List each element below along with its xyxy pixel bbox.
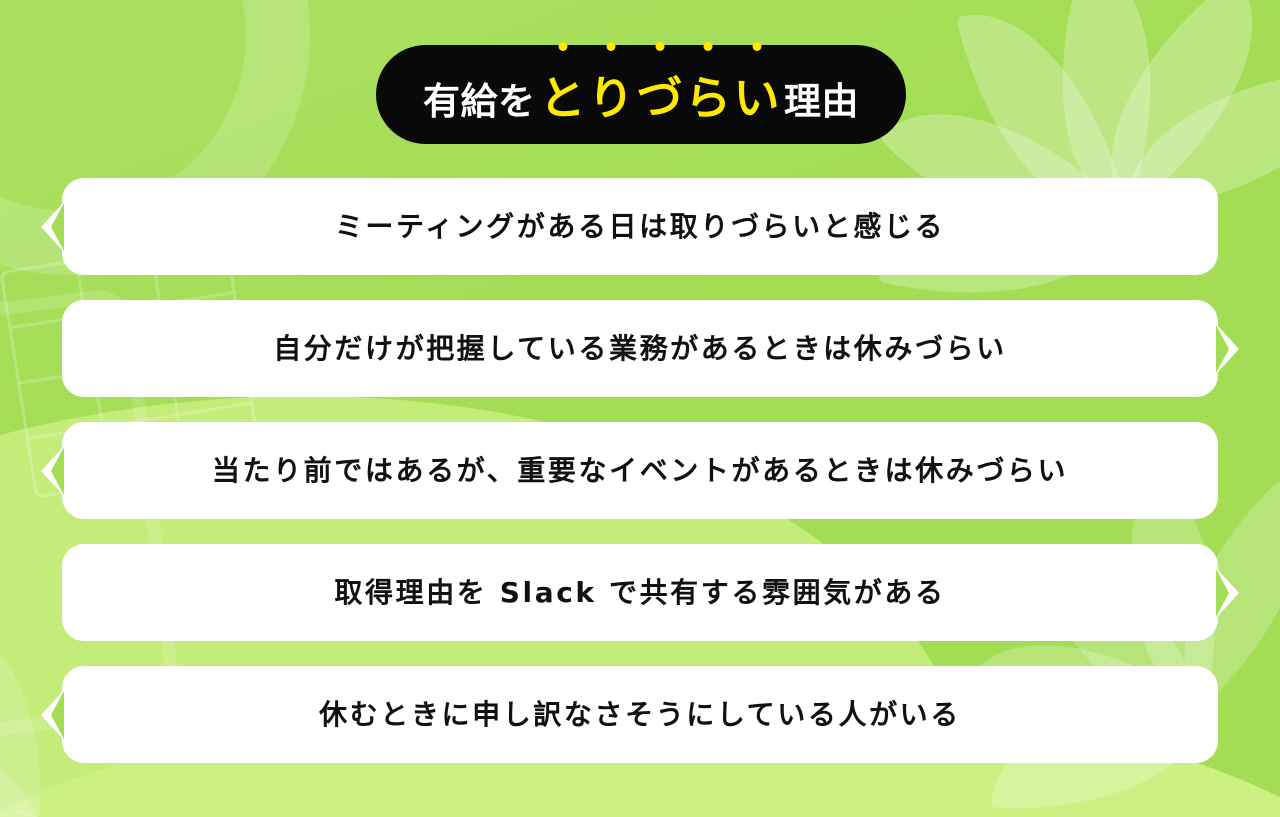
title-emphasis: と り づ ら い: [539, 62, 782, 128]
reason-card-1: ミーティングがある日は取りづらいと感じる: [62, 178, 1218, 275]
title-emphasis-char: り: [587, 62, 636, 128]
reason-card-label: ミーティングがある日は取りづらいと感じる: [335, 213, 945, 241]
title-prefix: 有給を: [423, 71, 536, 125]
title-emphasis-char: い: [733, 62, 782, 128]
reason-card-5: 休むときに申し訳なさそうにしている人がいる: [62, 666, 1218, 763]
reason-card-label: 取得理由を Slack で共有する雰囲気がある: [334, 579, 945, 607]
reason-card-label: 自分だけが把握している業務があるときは休みづらい: [273, 335, 1007, 363]
speech-tail-left-icon: [41, 691, 63, 739]
speech-tail-left-icon: [41, 203, 63, 251]
infographic-slide: 有給を と り づ ら い 理由 ミーティングがある日は取りづらいと感じる 自分…: [0, 0, 1280, 817]
title-emphasis-char: ら: [684, 62, 733, 128]
title-pill: 有給を と り づ ら い 理由: [376, 45, 906, 144]
page-title: 有給を と り づ ら い 理由: [423, 62, 859, 128]
title-emphasis-char: づ: [636, 62, 685, 128]
title-emphasis-char: と: [539, 62, 588, 128]
title-suffix: 理由: [784, 71, 859, 125]
reason-card-2: 自分だけが把握している業務があるときは休みづらい: [62, 300, 1218, 397]
speech-tail-right-icon: [1217, 325, 1239, 373]
speech-tail-right-icon: [1217, 569, 1239, 617]
speech-tail-left-icon: [41, 447, 63, 495]
reason-card-label: 休むときに申し訳なさそうにしている人がいる: [319, 701, 961, 729]
reason-card-label: 当たり前ではあるが、重要なイベントがあるときは休みづらい: [212, 457, 1068, 485]
reason-card-3: 当たり前ではあるが、重要なイベントがあるときは休みづらい: [62, 422, 1218, 519]
reason-card-4: 取得理由を Slack で共有する雰囲気がある: [62, 544, 1218, 641]
